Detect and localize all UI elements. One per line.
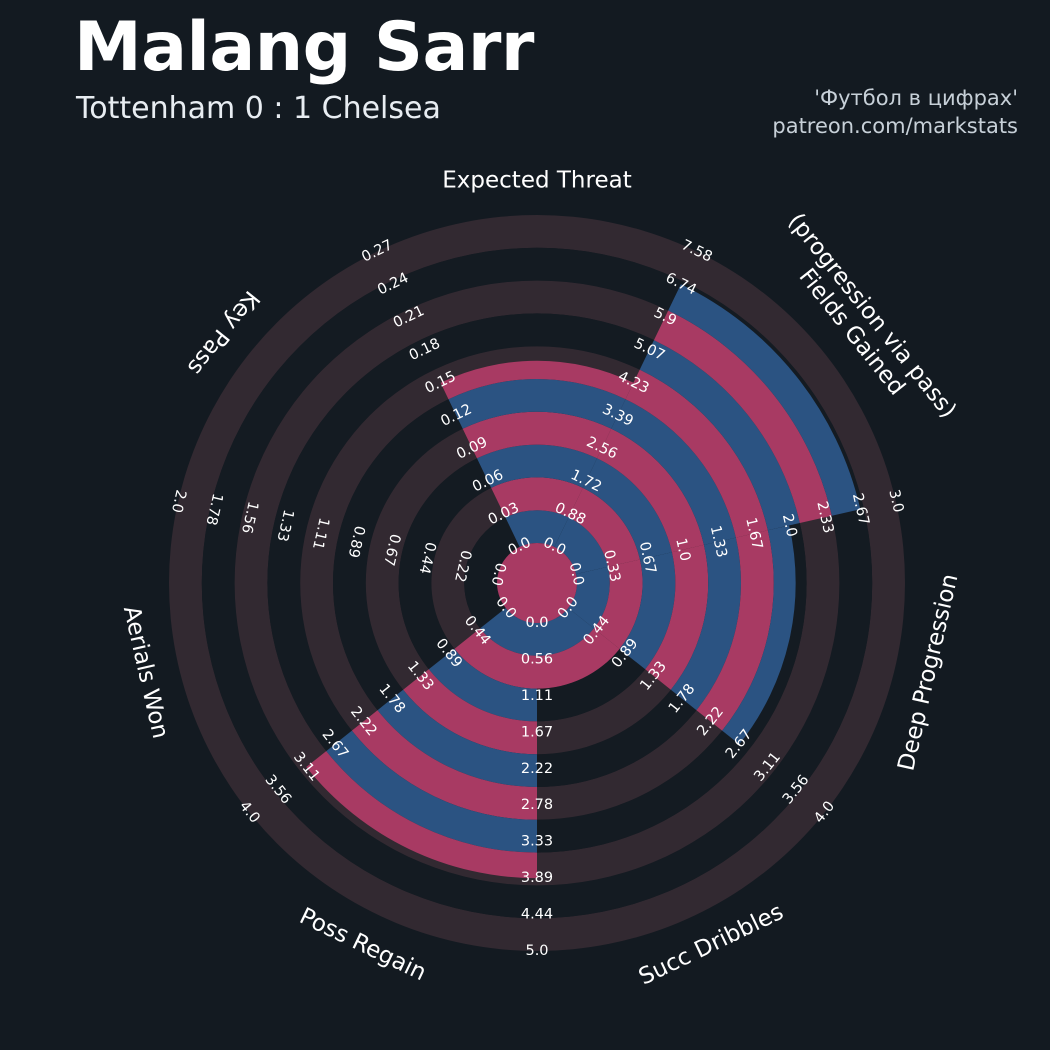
axis-title: Aerials Won	[118, 604, 173, 742]
tick-label: 4.44	[521, 907, 553, 923]
tick-label: 0.56	[521, 651, 553, 667]
radar-chart-page: Malang Sarr Tottenham 0 : 1 Chelsea 'Фут…	[0, 0, 1050, 1050]
tick-label: 5.0	[525, 943, 548, 959]
tick-label: 0.0	[525, 615, 548, 631]
tick-label: 2.22	[521, 761, 553, 777]
radar-chart: 0.00.030.060.090.120.150.180.210.240.270…	[0, 0, 1050, 1050]
tick-label: 2.78	[521, 797, 553, 813]
tick-label: 3.33	[521, 834, 553, 850]
tick-label: 3.89	[521, 870, 553, 886]
tick-label: 1.67	[521, 724, 553, 740]
axis-title: Expected Threat	[442, 168, 631, 194]
tick-label: 1.11	[521, 688, 553, 704]
